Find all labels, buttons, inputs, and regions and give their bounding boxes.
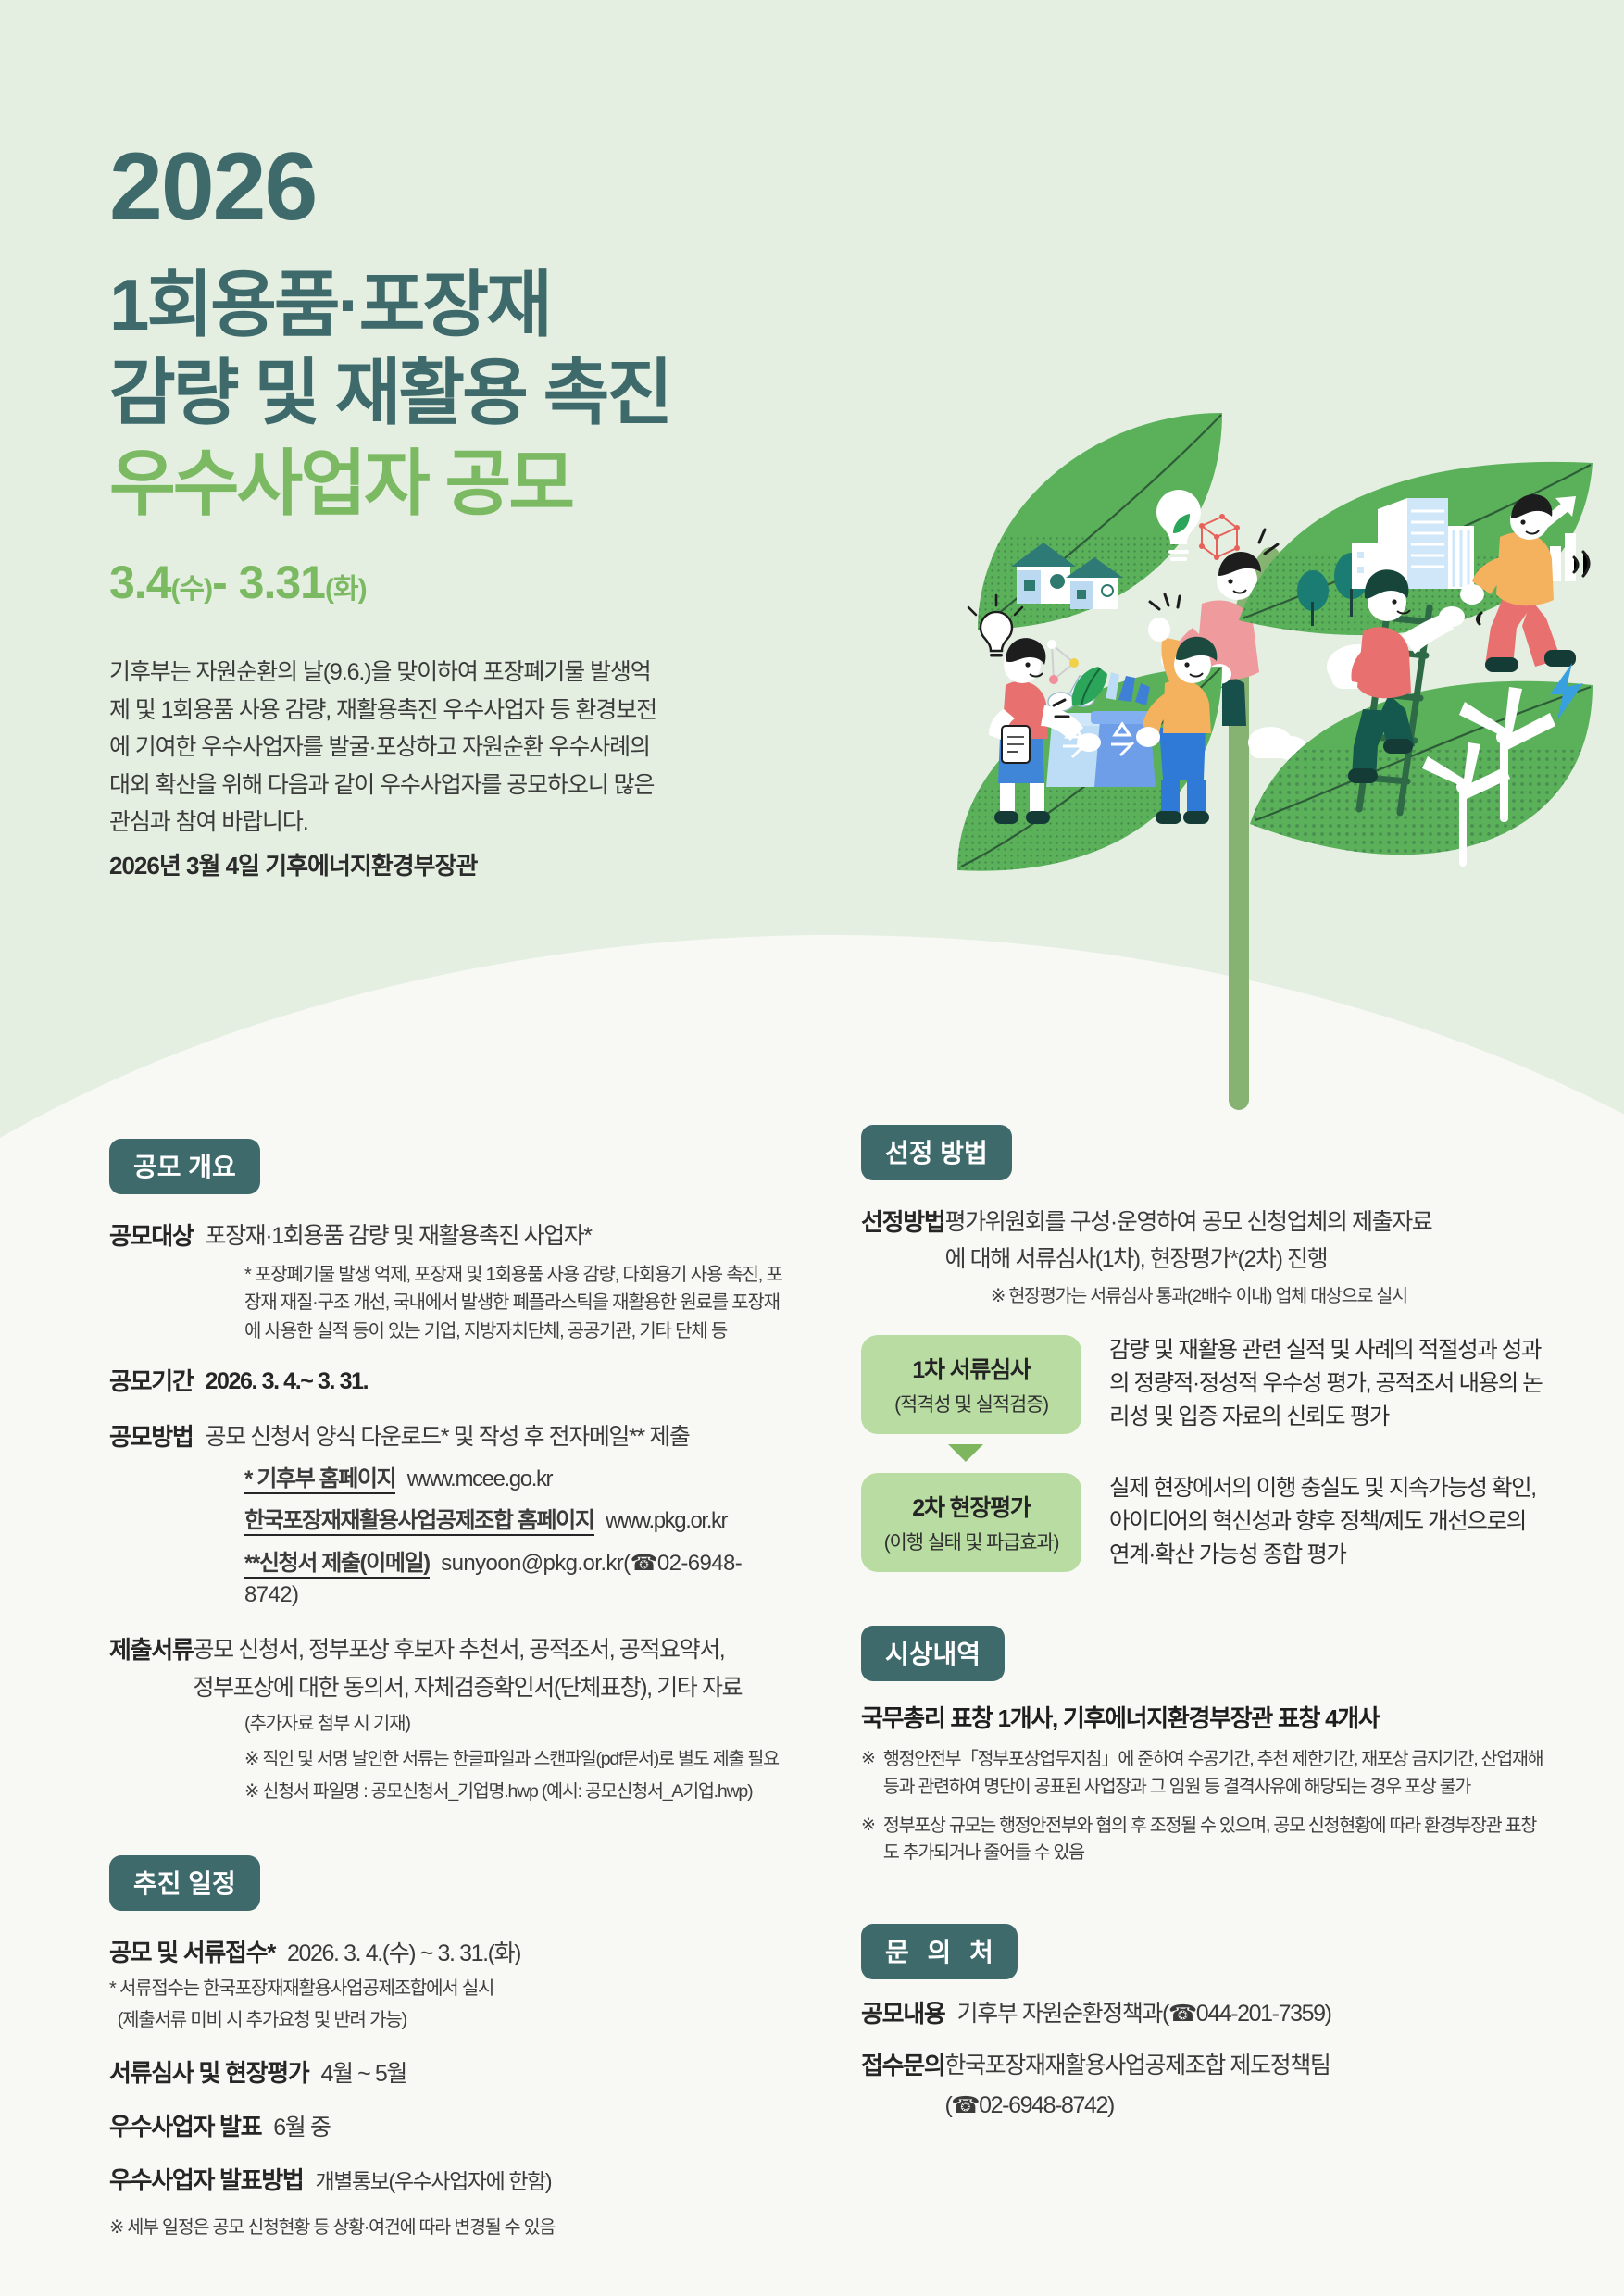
overview-target-value: 포장재·1회용품 감량 및 재활용촉진 사업자* xyxy=(205,1220,591,1253)
contact-row-1: 접수문의 한국포장재재활용사업공제조합 제도정책팀 (☎02-6948-8742… xyxy=(861,2050,1546,2122)
overview-target-row: 공모대상 포장재·1회용품 감량 및 재활용촉진 사업자* xyxy=(109,1220,794,1254)
award-note-1: ※ 정부포상 규모는 행정안전부와 협의 후 조정될 수 있으며, 공모 신청현… xyxy=(861,1813,1546,1867)
contact-label: 공모내용 xyxy=(861,1998,944,2031)
section-title-award: 시상내역 xyxy=(861,1626,1005,1681)
hero-title-line3: 우수사업자 공모 xyxy=(109,447,572,519)
overview-email-label: **신청서 제출(이메일) xyxy=(244,1551,430,1578)
overview-target-label: 공모대상 xyxy=(109,1220,193,1254)
schedule-item-value: 4월 ~ 5월 xyxy=(320,2058,406,2090)
overview-period-row: 공모기간 2026. 3. 4.~ 3. 31. xyxy=(109,1366,794,1399)
intro-paragraph: 기후부는 자원순환의 날(9.6.)을 맞이하여 포장폐기물 발생억제 및 1회… xyxy=(109,654,665,842)
selection-step-box: 1차 서류심사 (적격성 및 실적검증) xyxy=(861,1335,1081,1434)
right-column: 선정 방법 선정방법 평가위원회를 구성·운영하여 공모 신청업체의 제출자료 … xyxy=(861,1125,1546,2122)
overview-site2-url[interactable]: www.pkg.or.kr xyxy=(606,1508,727,1533)
left-column: 공모 개요 공모대상 포장재·1회용품 감량 및 재활용촉진 사업자* * 포장… xyxy=(109,1139,794,2241)
selection-step-description: 실제 현장에서의 이행 충실도 및 지속가능성 확인, 아이디어의 혁신성과 향… xyxy=(1109,1472,1546,1572)
date-from-weekday: (수) xyxy=(171,574,213,605)
overview-method-value: 공모 신청서 양식 다운로드* 및 작성 후 전자메일** 제출 xyxy=(205,1421,689,1454)
award-headline: 국무총리 표창 1개사, 기후에너지환경부장관 표창 4개사 xyxy=(861,1700,1546,1734)
flow-arrow-down-icon xyxy=(948,1444,983,1462)
section-selection: 선정 방법 선정방법 평가위원회를 구성·운영하여 공모 신청업체의 제출자료 … xyxy=(861,1125,1546,1572)
contact-value: 한국포장재재활용사업공제조합 제도정책팀 xyxy=(944,2050,1330,2082)
date-dash: - xyxy=(212,556,227,608)
selection-step-subtitle: (이행 실태 및 파급효과) xyxy=(867,1528,1076,1555)
selection-step-2: 2차 현장평가 (이행 실태 및 파급효과) 실제 현장에서의 이행 충실도 및… xyxy=(861,1472,1546,1572)
selection-method-note: ※ 현장평가는 서류심사 통과(2배수 이내) 업체 대상으로 실시 xyxy=(991,1283,1546,1310)
hero-date-range: 3.4(수)- 3.31(화) xyxy=(109,555,367,609)
asterisk-icon: ※ xyxy=(861,1746,876,1801)
overview-docs-row: 제출서류 공모 신청서, 정부포상 후보자 추천서, 공적조서, 공적요약서, … xyxy=(109,1634,794,1704)
overview-site2-label: 한국포장재재활용사업공제조합 홈페이지 xyxy=(244,1508,594,1536)
schedule-item-value: 개별통보(우수사업자에 한함) xyxy=(316,2166,552,2196)
overview-period-label: 공모기간 xyxy=(109,1366,193,1399)
section-title-contact: 문 의 처 xyxy=(861,1924,1018,1979)
schedule-item-value: 6월 중 xyxy=(273,2112,330,2144)
date-to: 3.31 xyxy=(239,556,325,608)
schedule-item-3: 우수사업자 발표방법 개별통보(우수사업자에 한함) xyxy=(109,2165,794,2198)
schedule-item-label: 서류심사 및 현장평가 xyxy=(109,2057,308,2090)
overview-site2-row: 한국포장재재활용사업공제조합 홈페이지 www.pkg.or.kr xyxy=(244,1505,794,1537)
schedule-item-label: 우수사업자 발표 xyxy=(109,2111,261,2144)
award-note-text: 정부포상 규모는 행정안전부와 협의 후 조정될 수 있으며, 공모 신청현황에… xyxy=(883,1813,1546,1867)
award-note-0: ※ 행정안전부「정부포상업무지침」에 준하여 수공기간, 추천 제한기간, 재포… xyxy=(861,1746,1546,1801)
selection-method-line1: 평가위원회를 구성·운영하여 공모 신청업체의 제출자료 xyxy=(944,1206,1431,1239)
overview-email-row: **신청서 제출(이메일) sunyoon@pkg.or.kr(☎02-6948… xyxy=(244,1548,794,1610)
schedule-item-label: 공모 및 서류접수* xyxy=(109,1937,275,1970)
schedule-item-0: 공모 및 서류접수* 2026. 3. 4.(수) ~ 3. 31.(화) * … xyxy=(109,1937,794,2035)
date-from: 3.4 xyxy=(109,556,171,608)
selection-step-1: 1차 서류심사 (적격성 및 실적검증) 감량 및 재활용 관련 실적 및 사례… xyxy=(861,1334,1546,1434)
overview-target-note: * 포장폐기물 발생 억제, 포장재 및 1회용품 사용 감량, 다회용기 사용… xyxy=(244,1261,794,1345)
section-contact: 문 의 처 공모내용 기후부 자원순환정책과(☎044-201-7359) 접수… xyxy=(861,1924,1546,2122)
overview-method-row: 공모방법 공모 신청서 양식 다운로드* 및 작성 후 전자메일** 제출 xyxy=(109,1421,794,1454)
selection-method-label: 선정방법 xyxy=(861,1206,944,1240)
eco-plant-people-illustration xyxy=(944,231,1624,1111)
schedule-item-note: (제출서류 미비 시 추가요청 및 반려 가능) xyxy=(109,2006,794,2034)
schedule-footnote: ※ 세부 일정은 공모 신청현황 등 상황·여건에 따라 변경될 수 있음 xyxy=(109,2215,794,2241)
schedule-item-1: 서류심사 및 현장평가 4월 ~ 5월 xyxy=(109,2057,794,2090)
schedule-item-2: 우수사업자 발표 6월 중 xyxy=(109,2111,794,2144)
hero-title-line1: 1회용품·포장재 xyxy=(109,268,550,341)
hero-title-line2: 감량 및 재활용 촉진 xyxy=(109,356,670,429)
overview-docs-line3: (추가자료 첨부 시 기재) xyxy=(244,1710,794,1738)
overview-docs-note1: ※ 직인 및 서명 날인한 서류는 한글파일과 스캔파일(pdf문서)로 별도 … xyxy=(244,1746,794,1773)
schedule-item-label: 우수사업자 발표방법 xyxy=(109,2165,304,2198)
selection-step-subtitle: (적격성 및 실적검증) xyxy=(867,1390,1076,1417)
section-title-overview: 공모 개요 xyxy=(109,1139,260,1194)
selection-step-description: 감량 및 재활용 관련 실적 및 사례의 적절성과 성과의 정량적·정성적 우수… xyxy=(1109,1334,1546,1434)
hero-year: 2026 xyxy=(109,139,316,235)
asterisk-icon: ※ xyxy=(861,1813,876,1867)
overview-method-label: 공모방법 xyxy=(109,1421,193,1454)
contact-value[interactable]: 기후부 자원순환정책과(☎044-201-7359) xyxy=(956,1998,1330,2030)
section-overview: 공모 개요 공모대상 포장재·1회용품 감량 및 재활용촉진 사업자* * 포장… xyxy=(109,1139,794,1805)
selection-method-line2: 에 대해 서류심사(1차), 현장평가*(2차) 진행 xyxy=(944,1243,1431,1276)
contact-value-phone[interactable]: (☎02-6948-8742) xyxy=(944,2090,1330,2122)
overview-docs-label: 제출서류 xyxy=(109,1634,193,1667)
contact-label: 접수문의 xyxy=(861,2050,944,2083)
date-to-weekday: (화) xyxy=(325,574,367,605)
signature-line: 2026년 3월 4일 기후에너지환경부장관 xyxy=(109,847,477,881)
selection-step-title: 2차 현장평가 xyxy=(867,1490,1076,1523)
selection-step-title: 1차 서류심사 xyxy=(867,1352,1076,1385)
overview-docs-line1: 공모 신청서, 정부포상 후보자 추천서, 공적조서, 공적요약서, xyxy=(193,1634,742,1666)
section-schedule: 추진 일정 공모 및 서류접수* 2026. 3. 4.(수) ~ 3. 31.… xyxy=(109,1855,794,2241)
schedule-item-note: * 서류접수는 한국포장재재활용사업공제조합에서 실시 xyxy=(109,1975,794,2003)
selection-step-box: 2차 현장평가 (이행 실태 및 파급효과) xyxy=(861,1473,1081,1572)
overview-site1-label: * 기후부 홈페이지 xyxy=(244,1466,395,1494)
overview-docs-line2: 정부포상에 대한 동의서, 자체검증확인서(단체표창), 기타 자료 xyxy=(193,1672,742,1704)
overview-docs-note2: ※ 신청서 파일명 : 공모신청서_기업명.hwp (예시: 공모신청서_A기업… xyxy=(244,1778,794,1805)
schedule-item-value: 2026. 3. 4.(수) ~ 3. 31.(화) xyxy=(287,1938,520,1970)
section-award: 시상내역 국무총리 표창 1개사, 기후에너지환경부장관 표창 4개사 ※ 행정… xyxy=(861,1626,1546,1866)
overview-site1-url[interactable]: www.mcee.go.kr xyxy=(407,1466,552,1491)
contact-row-0: 공모내용 기후부 자원순환정책과(☎044-201-7359) xyxy=(861,1998,1546,2031)
selection-flow: 1차 서류심사 (적격성 및 실적검증) 감량 및 재활용 관련 실적 및 사례… xyxy=(861,1334,1546,1572)
award-note-text: 행정안전부「정부포상업무지침」에 준하여 수공기간, 추천 제한기간, 재포상 … xyxy=(883,1746,1546,1801)
overview-site1-row: * 기후부 홈페이지 www.mcee.go.kr xyxy=(244,1464,794,1495)
overview-period-value: 2026. 3. 4.~ 3. 31. xyxy=(205,1366,368,1398)
selection-method-row: 선정방법 평가위원회를 구성·운영하여 공모 신청업체의 제출자료 에 대해 서… xyxy=(861,1206,1546,1276)
section-title-selection: 선정 방법 xyxy=(861,1125,1012,1180)
section-title-schedule: 추진 일정 xyxy=(109,1855,260,1911)
